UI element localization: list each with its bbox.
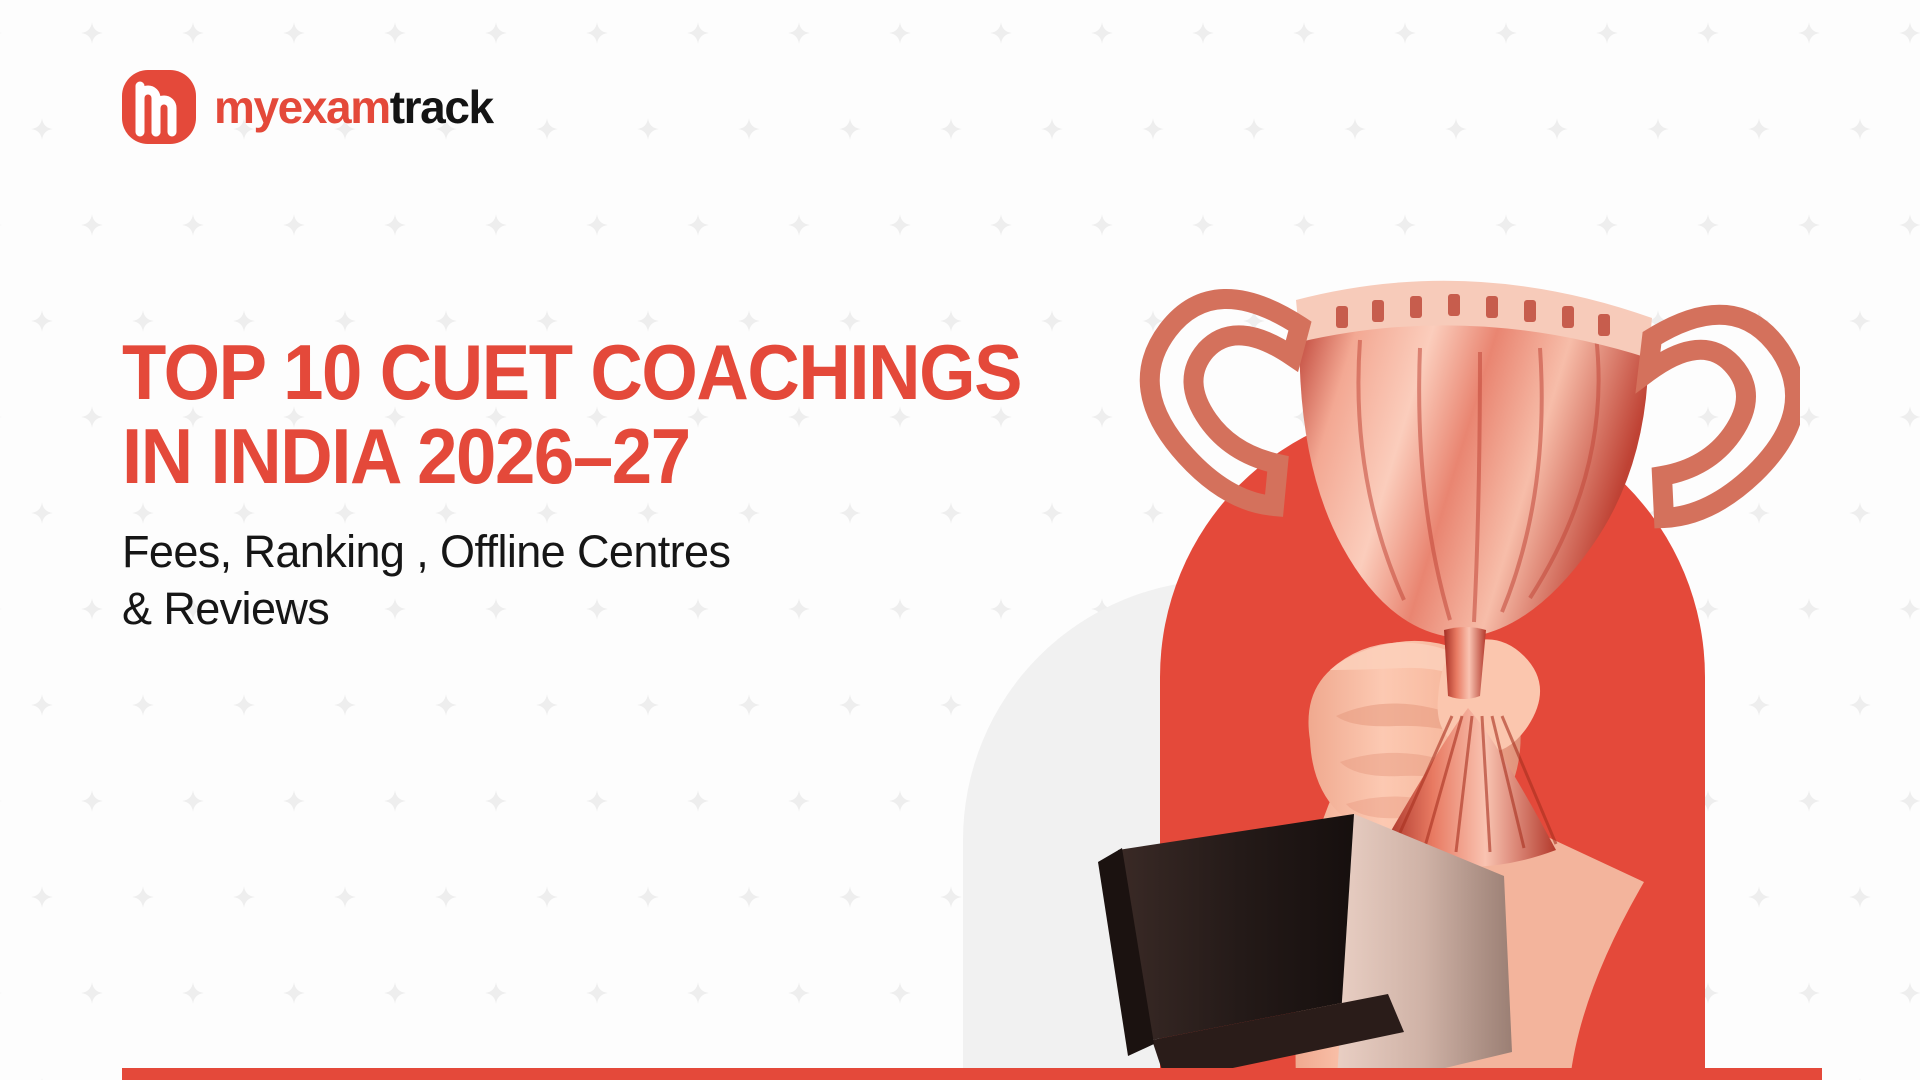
sparkle-icon <box>283 982 305 1004</box>
sparkle-icon <box>586 982 608 1004</box>
sparkle-icon <box>384 982 406 1004</box>
headline-line-2: IN INDIA 2026–27 <box>122 414 1052 498</box>
sparkle-icon <box>31 118 53 140</box>
sparkle-icon <box>1546 118 1568 140</box>
sparkle-icon <box>687 22 709 44</box>
sparkle-icon <box>687 790 709 812</box>
sparkle-icon <box>1798 22 1820 44</box>
sparkle-icon <box>1899 598 1920 620</box>
sparkle-icon <box>1798 406 1820 428</box>
sparkle-icon <box>283 22 305 44</box>
sparkle-icon <box>1243 118 1265 140</box>
sparkle-icon <box>283 790 305 812</box>
sparkle-icon <box>1748 118 1770 140</box>
sparkle-icon <box>940 118 962 140</box>
sparkle-icon <box>0 982 2 1004</box>
sparkle-icon <box>0 406 2 428</box>
sparkle-icon <box>334 886 356 908</box>
brand-name-primary: myexam <box>214 81 390 133</box>
sparkle-icon <box>81 982 103 1004</box>
sparkle-icon <box>1899 22 1920 44</box>
sparkle-icon <box>485 214 507 236</box>
sparkle-icon <box>788 790 810 812</box>
sparkle-icon <box>485 790 507 812</box>
sparkle-icon <box>586 22 608 44</box>
sparkle-icon <box>536 118 558 140</box>
sparkle-icon <box>1697 22 1719 44</box>
sparkle-icon <box>0 22 2 44</box>
sparkle-icon <box>637 886 659 908</box>
sparkle-icon <box>81 790 103 812</box>
sparkle-icon <box>940 886 962 908</box>
sparkle-icon <box>1798 982 1820 1004</box>
sparkle-icon <box>1344 118 1366 140</box>
sparkle-icon <box>81 406 103 428</box>
sparkle-icon <box>1445 118 1467 140</box>
sparkle-icon <box>738 118 760 140</box>
sparkle-icon <box>586 790 608 812</box>
sparkle-icon <box>0 598 2 620</box>
sparkle-icon <box>384 790 406 812</box>
sparkle-icon <box>384 214 406 236</box>
sparkle-icon <box>81 214 103 236</box>
sparkle-icon <box>738 694 760 716</box>
sparkle-icon <box>334 694 356 716</box>
sparkle-icon <box>1596 22 1618 44</box>
sparkle-icon <box>233 886 255 908</box>
sparkle-icon <box>435 886 457 908</box>
sparkle-icon <box>31 310 53 332</box>
sparkle-icon <box>485 22 507 44</box>
sparkle-icon <box>435 694 457 716</box>
sparkle-icon <box>889 982 911 1004</box>
sparkle-icon <box>1192 22 1214 44</box>
sparkle-icon <box>788 214 810 236</box>
sparkle-icon <box>1798 790 1820 812</box>
hero-copy: TOP 10 CUET COACHINGS IN INDIA 2026–27 F… <box>122 330 1122 637</box>
sparkle-icon <box>788 982 810 1004</box>
sparkle-icon <box>182 214 204 236</box>
sparkle-icon <box>1647 118 1669 140</box>
sparkle-icon <box>637 118 659 140</box>
sparkle-icon <box>132 694 154 716</box>
sparkle-icon <box>1849 118 1871 140</box>
sparkle-icon <box>990 22 1012 44</box>
sparkle-icon <box>182 790 204 812</box>
brand-logo[interactable]: myexamtrack <box>122 70 493 144</box>
sparkle-icon <box>1899 982 1920 1004</box>
sparkle-icon <box>940 694 962 716</box>
page-subtitle: Fees, Ranking , Offline Centres & Review… <box>122 524 1122 637</box>
sparkle-icon <box>1293 22 1315 44</box>
sparkle-icon <box>81 22 103 44</box>
sparkle-icon <box>233 694 255 716</box>
sparkle-icon <box>1041 118 1063 140</box>
sparkle-icon <box>81 598 103 620</box>
sparkle-icon <box>536 886 558 908</box>
sparkle-icon <box>839 886 861 908</box>
sparkle-icon <box>283 214 305 236</box>
sparkle-icon <box>889 22 911 44</box>
subhead-line-1: Fees, Ranking , Offline Centres <box>122 524 1122 580</box>
sparkle-icon <box>1142 118 1164 140</box>
headline-line-1: TOP 10 CUET COACHINGS <box>122 330 1052 414</box>
brand-name-secondary: track <box>390 81 493 133</box>
sparkle-icon <box>182 22 204 44</box>
sparkle-icon <box>182 982 204 1004</box>
promo-banner: myexamtrack TOP 10 CUET COACHINGS IN IND… <box>0 0 1920 1080</box>
sparkle-icon <box>485 982 507 1004</box>
bottom-accent-rule <box>122 1068 1822 1080</box>
sparkle-icon <box>1495 22 1517 44</box>
sparkle-icon <box>31 886 53 908</box>
sparkle-icon <box>788 22 810 44</box>
sparkle-icon <box>1798 598 1820 620</box>
sparkle-icon <box>0 214 2 236</box>
sparkle-icon <box>889 790 911 812</box>
sparkle-icon <box>637 694 659 716</box>
sparkle-icon <box>31 694 53 716</box>
sparkle-icon <box>1849 502 1871 524</box>
m-monogram-icon <box>122 70 196 144</box>
sparkle-icon <box>0 790 2 812</box>
sparkle-icon <box>839 694 861 716</box>
sparkle-icon <box>889 214 911 236</box>
sparkle-icon <box>1849 886 1871 908</box>
sparkle-icon <box>687 214 709 236</box>
sparkle-icon <box>1899 406 1920 428</box>
sparkle-icon <box>738 886 760 908</box>
sparkle-icon <box>839 118 861 140</box>
sparkle-icon <box>31 502 53 524</box>
subhead-line-2: & Reviews <box>122 581 1122 637</box>
page-title: TOP 10 CUET COACHINGS IN INDIA 2026–27 <box>122 330 1052 498</box>
sparkle-icon <box>1899 214 1920 236</box>
sparkle-icon <box>1849 310 1871 332</box>
sparkle-icon <box>687 982 709 1004</box>
sparkle-icon <box>384 22 406 44</box>
brand-wordmark: myexamtrack <box>214 84 493 130</box>
sparkle-icon <box>132 886 154 908</box>
sparkle-icon <box>1849 694 1871 716</box>
sparkle-icon <box>586 214 608 236</box>
sparkle-icon <box>1798 214 1820 236</box>
sparkle-icon <box>1394 22 1416 44</box>
sparkle-icon <box>1091 22 1113 44</box>
sparkle-icon <box>536 694 558 716</box>
sparkle-icon <box>1899 790 1920 812</box>
